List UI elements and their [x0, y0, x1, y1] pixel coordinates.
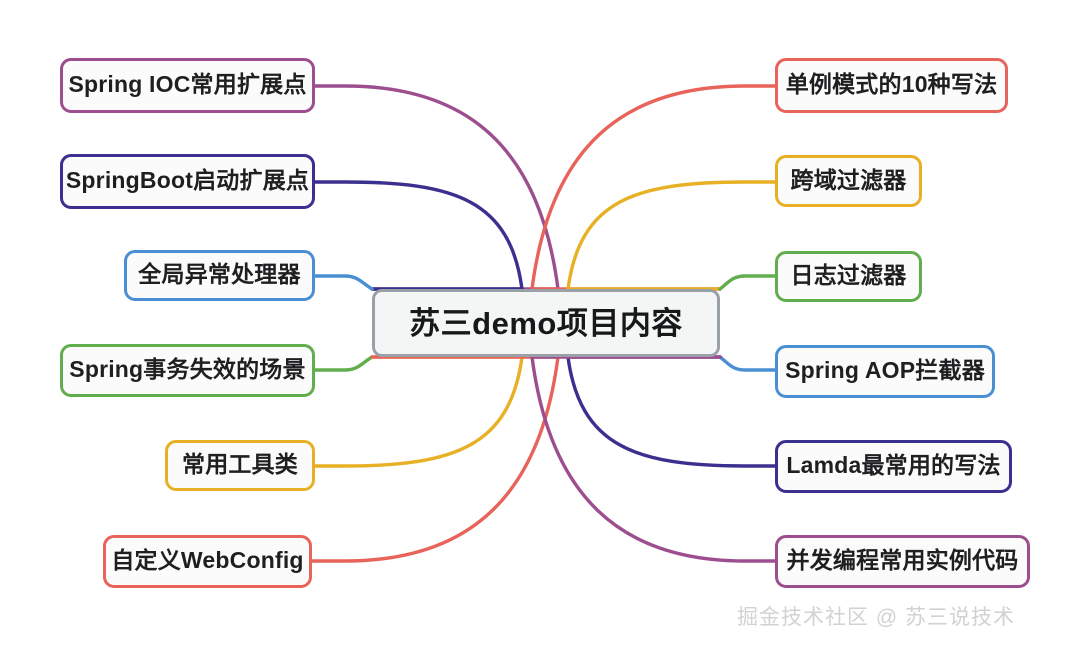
left-branch-label-2: SpringBoot启动扩展点 — [66, 169, 309, 192]
connector-lamda — [568, 357, 775, 466]
left-branch-node-5[interactable]: 常用工具类 — [165, 440, 315, 491]
connector-spring-tx — [315, 357, 372, 370]
connector-webconfig — [312, 357, 558, 561]
left-branch-node-3[interactable]: 全局异常处理器 — [124, 250, 315, 301]
center-node-label: 苏三demo项目内容 — [409, 308, 683, 339]
right-branch-node-5[interactable]: Lamda最常用的写法 — [775, 440, 1012, 493]
left-branch-label-5: 常用工具类 — [182, 453, 298, 476]
right-branch-label-5: Lamda最常用的写法 — [786, 454, 1000, 477]
watermark: 掘金技术社区 @ 苏三说技术 — [737, 601, 1015, 631]
center-node[interactable]: 苏三demo项目内容 — [372, 289, 720, 357]
right-branch-label-4: Spring AOP拦截器 — [785, 359, 985, 382]
left-branch-node-6[interactable]: 自定义WebConfig — [103, 535, 312, 588]
left-branch-node-1[interactable]: Spring IOC常用扩展点 — [60, 58, 315, 113]
right-branch-label-6: 并发编程常用实例代码 — [787, 549, 1019, 572]
right-branch-node-2[interactable]: 跨域过滤器 — [775, 155, 922, 207]
connector-singleton — [532, 86, 775, 289]
right-branch-label-1: 单例模式的10种写法 — [786, 73, 998, 96]
right-branch-node-6[interactable]: 并发编程常用实例代码 — [775, 535, 1030, 588]
left-branch-node-4[interactable]: Spring事务失效的场景 — [60, 344, 315, 397]
right-branch-node-3[interactable]: 日志过滤器 — [775, 251, 922, 302]
left-branch-label-3: 全局异常处理器 — [138, 263, 300, 286]
connector-spring-aop — [720, 357, 775, 370]
connector-concurrency — [532, 357, 775, 561]
left-branch-label-1: Spring IOC常用扩展点 — [68, 73, 306, 96]
connector-cors-filter — [568, 182, 775, 289]
connector-util-class — [315, 357, 522, 466]
connector-springboot — [315, 182, 522, 289]
connector-log-filter — [720, 276, 775, 289]
left-branch-node-2[interactable]: SpringBoot启动扩展点 — [60, 154, 315, 209]
connector-global-exception — [315, 276, 372, 289]
left-branch-label-4: Spring事务失效的场景 — [69, 358, 305, 381]
right-branch-node-1[interactable]: 单例模式的10种写法 — [775, 58, 1008, 113]
connector-spring-ioc — [315, 86, 558, 289]
right-branch-label-3: 日志过滤器 — [791, 264, 907, 287]
left-branch-label-6: 自定义WebConfig — [111, 549, 303, 572]
right-branch-label-2: 跨域过滤器 — [791, 169, 907, 192]
mindmap-canvas: 苏三demo项目内容 Spring IOC常用扩展点SpringBoot启动扩展… — [0, 0, 1080, 645]
right-branch-node-4[interactable]: Spring AOP拦截器 — [775, 345, 995, 398]
